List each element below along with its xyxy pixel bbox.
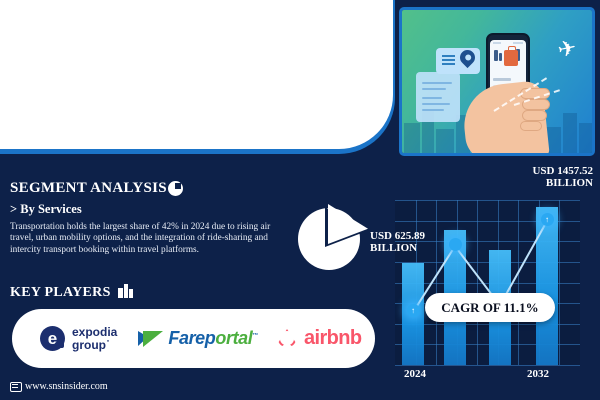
start-label-line1: USD 625.89 <box>370 230 425 242</box>
location-card <box>436 48 480 74</box>
segment-analysis-heading: SEGMENT ANALYSIS <box>10 180 167 197</box>
airbnb-wordmark: airbnb <box>304 327 362 350</box>
segment-pie-graphic <box>298 202 370 276</box>
footer: www.snsinsider.com <box>10 381 108 392</box>
fareportal-tm: ™ <box>252 333 258 339</box>
fareportal-text-blue: Farep <box>168 328 215 348</box>
segment-body-text: Transportation holds the largest share o… <box>10 222 288 256</box>
chart-data-point: ↑ <box>541 213 554 226</box>
buildings-icon <box>118 284 133 298</box>
chart-data-point: ↑ <box>407 304 420 317</box>
expedia-line2: group˙ <box>72 338 110 352</box>
fareportal-wordmark: Fareportal™ <box>168 328 258 349</box>
web-icon <box>10 382 22 392</box>
end-label-line1: USD 1457.52 <box>532 165 593 177</box>
chart-start-value-label: USD 625.89 BILLION <box>370 230 425 254</box>
fareportal-logo: Fareportal™ <box>138 309 258 368</box>
info-card <box>416 72 460 122</box>
header-white-panel <box>0 0 393 149</box>
expedia-wordmark: expodia group˙ <box>72 326 117 351</box>
fareportal-arrow-icon <box>138 331 164 347</box>
illustration-canvas: ✈ <box>402 10 592 153</box>
menu-lines-icon <box>442 55 455 57</box>
location-pin-icon <box>457 47 478 68</box>
market-growth-chart: ↑↑ <box>395 200 580 365</box>
chart-x-label-end: 2032 <box>527 368 549 380</box>
chart-gridline-horizontal <box>395 365 580 366</box>
chart-x-label-start: 2024 <box>404 368 426 380</box>
footer-url: www.snsinsider.com <box>25 381 108 392</box>
end-label-line2: BILLION <box>546 177 593 189</box>
expedia-group-logo: e expodia group˙ <box>40 309 117 368</box>
fareportal-text-green: ortal <box>215 328 252 348</box>
start-label-line2: BILLION <box>370 242 417 254</box>
airplane-icon: ✈ <box>555 36 578 61</box>
cagr-badge: CAGR OF 11.1% <box>425 293 555 322</box>
hero-illustration: ✈ <box>399 7 595 156</box>
expedia-mark-icon: e <box>40 326 65 351</box>
chart-data-point <box>449 238 462 251</box>
infographic-root: ONLINE TRAVEL MARKET The market is a dyn… <box>0 0 600 400</box>
key-players-logo-panel: e expodia group˙ Fareportal™ airbnb <box>12 309 375 368</box>
airbnb-belo-icon <box>276 327 299 350</box>
chart-gridline-horizontal <box>395 200 580 201</box>
airbnb-logo: airbnb <box>276 309 362 368</box>
suitcase-icon <box>504 50 518 66</box>
pie-chart-icon <box>168 181 183 196</box>
chart-end-value-label: USD 1457.52 BILLION <box>532 165 593 189</box>
by-services-heading: > By Services <box>10 202 82 217</box>
key-players-heading: KEY PLAYERS <box>10 285 111 301</box>
